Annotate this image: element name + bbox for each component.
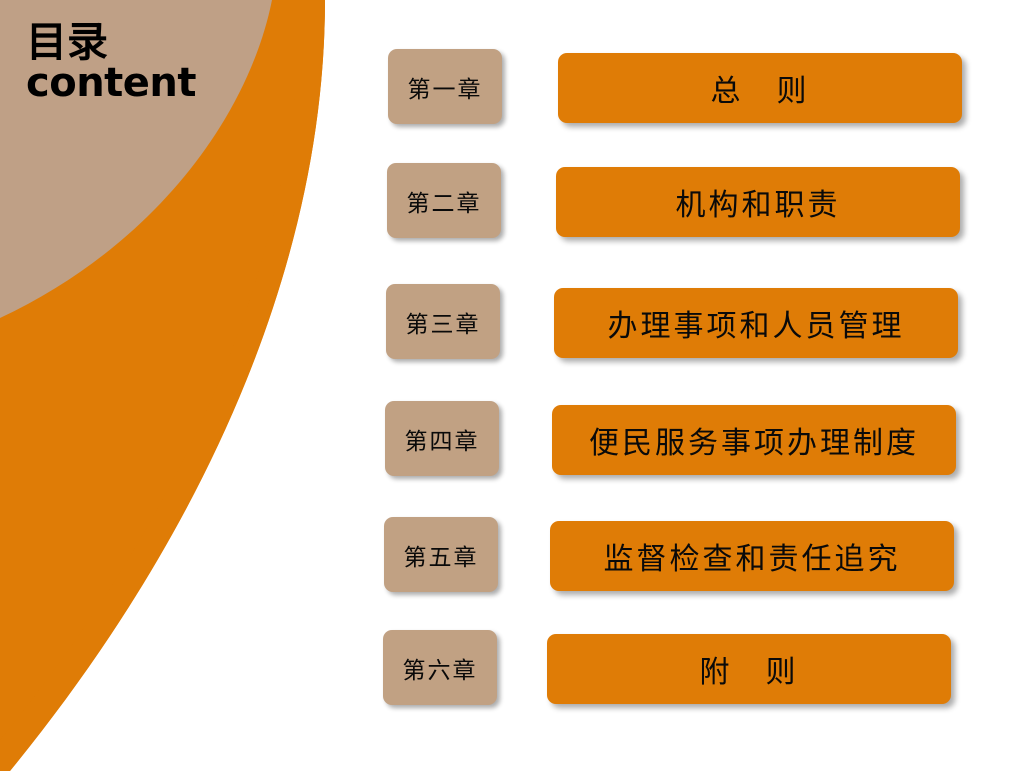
chapter-row: 第二章机构和职责 — [0, 163, 1024, 239]
chapter-title-bar[interactable]: 机构和职责 — [556, 167, 960, 237]
chapter-number-tag[interactable]: 第六章 — [383, 630, 497, 705]
chapter-title-bar[interactable]: 便民服务事项办理制度 — [552, 405, 956, 475]
chapter-row: 第三章办理事项和人员管理 — [0, 284, 1024, 360]
chapter-number-tag[interactable]: 第二章 — [387, 163, 501, 238]
chapter-list: 第一章总 则第二章机构和职责第三章办理事项和人员管理第四章便民服务事项办理制度第… — [0, 0, 1024, 771]
chapter-row: 第五章监督检查和责任追究 — [0, 517, 1024, 593]
chapter-number-tag[interactable]: 第四章 — [385, 401, 499, 476]
chapter-title-bar[interactable]: 监督检查和责任追究 — [550, 521, 954, 591]
chapter-number-tag[interactable]: 第三章 — [386, 284, 500, 359]
chapter-number-tag[interactable]: 第一章 — [388, 49, 502, 124]
chapter-row: 第一章总 则 — [0, 49, 1024, 125]
chapter-title-bar[interactable]: 附 则 — [547, 634, 951, 704]
chapter-row: 第六章附 则 — [0, 630, 1024, 706]
chapter-row: 第四章便民服务事项办理制度 — [0, 401, 1024, 477]
chapter-number-tag[interactable]: 第五章 — [384, 517, 498, 592]
chapter-title-bar[interactable]: 总 则 — [558, 53, 962, 123]
chapter-title-bar[interactable]: 办理事项和人员管理 — [554, 288, 958, 358]
slide-canvas: 目录 content 第一章总 则第二章机构和职责第三章办理事项和人员管理第四章… — [0, 0, 1024, 771]
